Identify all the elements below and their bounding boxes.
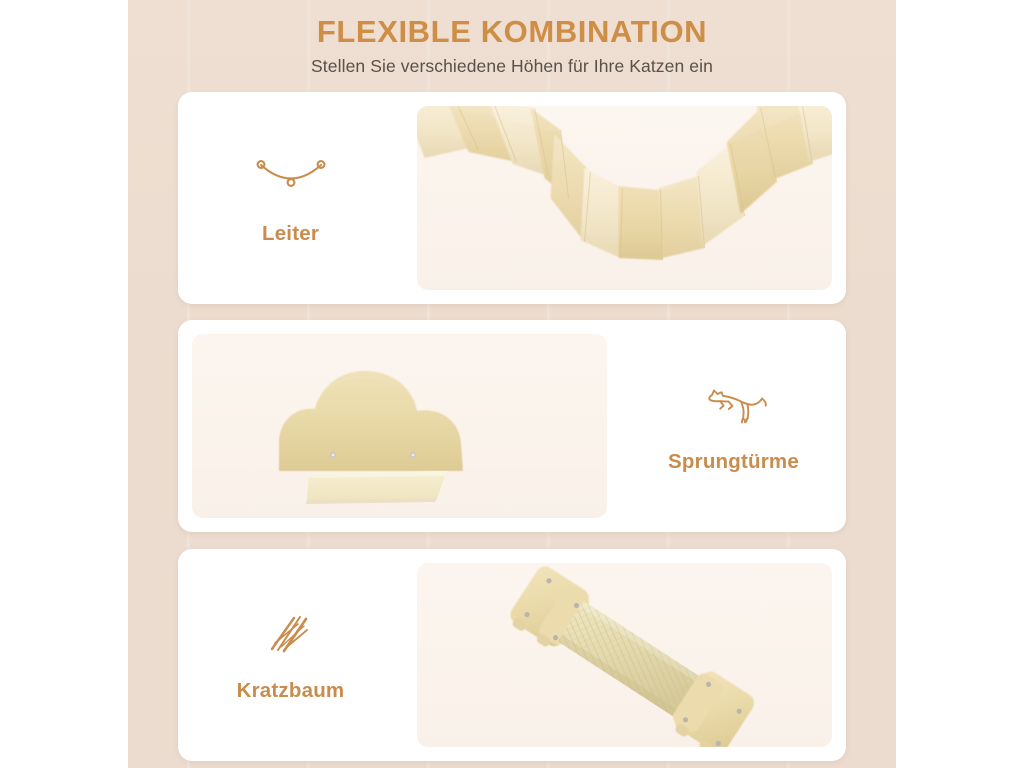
photo-pane-kratzbaum	[403, 549, 846, 761]
page-title: FLEXIBLE KOMBINATION	[128, 14, 896, 51]
feature-card-sprungtuerme[interactable]: Sprungtürme	[178, 320, 846, 532]
feature-card-leiter[interactable]: Leiter	[178, 92, 846, 304]
page-subtitle: Stellen Sie verschiedene Höhen für Ihre …	[128, 56, 896, 77]
hanging-bridge-icon	[253, 150, 329, 202]
plush-hanging-bridge-photo	[417, 106, 832, 290]
header: FLEXIBLE KOMBINATION Stellen Sie verschi…	[128, 14, 896, 77]
feature-label-kratzbaum: Kratzbaum	[237, 679, 345, 703]
jumping-cat-icon	[696, 378, 772, 430]
feature-label-sprungtuerme: Sprungtürme	[668, 450, 799, 474]
feature-label-leiter: Leiter	[262, 222, 319, 246]
label-pane-kratzbaum: Kratzbaum	[178, 549, 403, 761]
label-pane-sprungtuerme: Sprungtürme	[621, 320, 846, 532]
photo-pane-sprungtuerme	[178, 320, 621, 532]
sisal-scratch-ramp-photo	[417, 563, 832, 747]
cloud-wall-shelf-photo	[192, 334, 607, 518]
label-pane-leiter: Leiter	[178, 92, 403, 304]
feature-card-kratzbaum[interactable]: Kratzbaum	[178, 549, 846, 761]
scratch-marks-icon	[253, 607, 329, 659]
photo-pane-leiter	[403, 92, 846, 304]
product-feature-page: FLEXIBLE KOMBINATION Stellen Sie verschi…	[0, 0, 1024, 768]
